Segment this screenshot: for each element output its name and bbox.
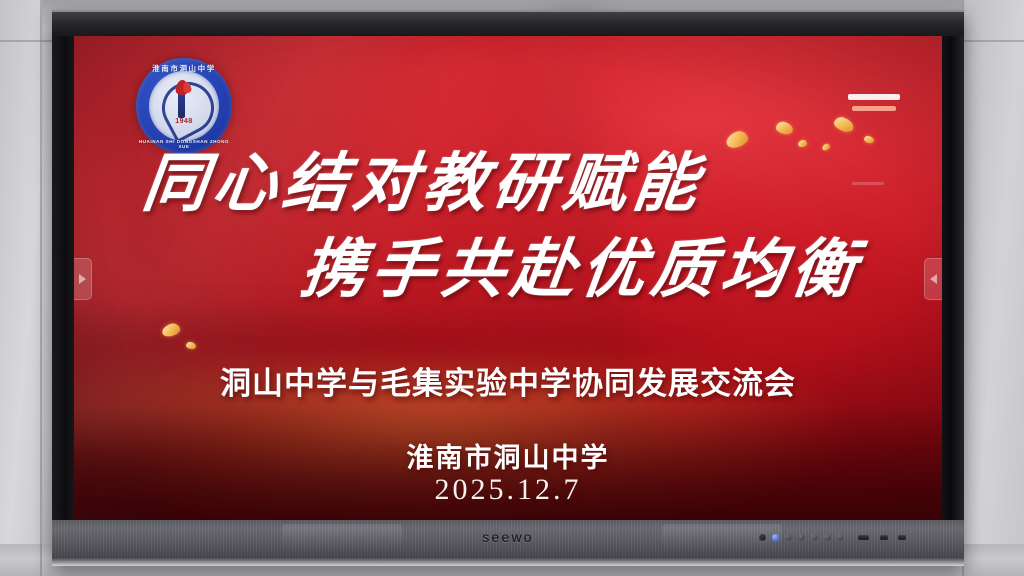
bezel-top (52, 10, 964, 38)
menu-button[interactable] (785, 534, 792, 541)
hardware-button-row[interactable] (759, 534, 906, 541)
ir-sensor-icon (759, 534, 766, 541)
wall-panel-left (0, 0, 42, 576)
event-subtitle: 洞山中学与毛集实验中学协同发展交流会 (74, 358, 942, 403)
aux-port[interactable] (898, 535, 906, 540)
overlay-bar-white[interactable] (848, 94, 900, 100)
usb-port[interactable] (858, 535, 869, 540)
home-button[interactable] (837, 534, 844, 541)
bezel-right (942, 36, 964, 520)
sidebar-handle-right[interactable] (924, 258, 942, 300)
bezel-bottom: seewo (52, 520, 964, 566)
bezel-left (52, 36, 74, 520)
room-background: 淮南市洞山中学 1948 HUAINAN SHI DONGSHAN ZHONG … (0, 0, 1024, 576)
hdmi-port[interactable] (880, 535, 888, 540)
input-source-button[interactable] (798, 534, 805, 541)
crest-founded-year: 1948 (136, 118, 232, 125)
wall-seam-left (40, 0, 42, 576)
volume-up-button[interactable] (824, 534, 831, 541)
chevron-left-icon (930, 274, 937, 284)
headline-line-2: 携手共赴优质均衡 (296, 218, 867, 310)
overlay-bar-orange[interactable] (852, 106, 896, 111)
power-button[interactable] (772, 534, 779, 541)
chevron-right-icon (79, 274, 86, 284)
headline-line-1: 同心结对教研赋能 (138, 132, 709, 224)
sidebar-handle-left[interactable] (74, 258, 92, 300)
volume-down-button[interactable] (811, 534, 818, 541)
organizer-name: 淮南市洞山中学 (74, 436, 942, 475)
overlay-bar-faint (852, 182, 884, 185)
wall-panel-right (962, 0, 1024, 576)
event-date: 2025.12.7 (74, 473, 942, 507)
display-screen[interactable]: 淮南市洞山中学 1948 HUAINAN SHI DONGSHAN ZHONG … (74, 36, 942, 520)
interactive-flat-panel-display[interactable]: 淮南市洞山中学 1948 HUAINAN SHI DONGSHAN ZHONG … (52, 10, 964, 566)
